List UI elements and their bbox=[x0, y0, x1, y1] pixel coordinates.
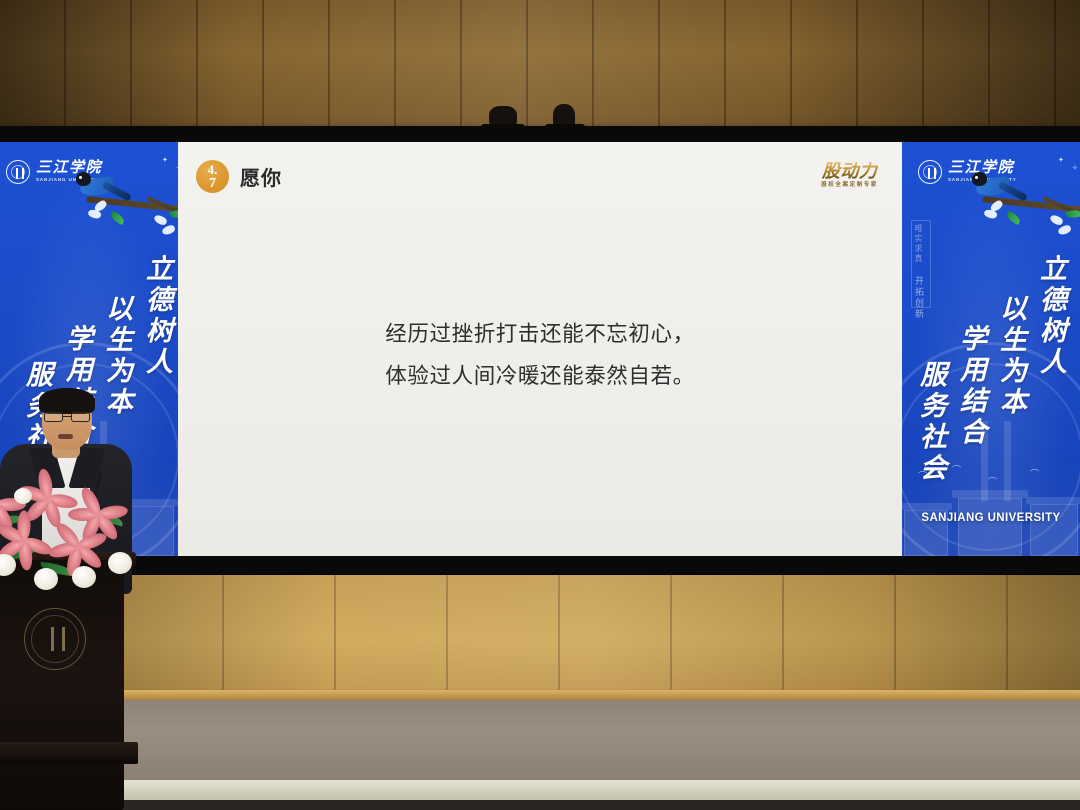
podium-base bbox=[0, 742, 138, 764]
campus-silhouette-right: ⌒ ⌒ ⌒ ⌒ SANJIANG UNIVERSITY bbox=[902, 464, 1080, 556]
magnolia-petal-icon bbox=[161, 224, 176, 236]
magnolia-bird-art-right: ✦ ✧ bbox=[954, 152, 1080, 262]
motto-column-1: 立德树人 bbox=[1035, 254, 1066, 378]
motto-column-2: 以生为本 bbox=[995, 294, 1026, 418]
university-seal-icon bbox=[918, 160, 942, 184]
rose-icon bbox=[14, 488, 32, 504]
magnolia-petal-icon bbox=[153, 213, 168, 226]
rose-icon bbox=[72, 566, 96, 588]
brand-name: 股动力 bbox=[821, 162, 878, 180]
magpie-eye-icon bbox=[79, 176, 82, 179]
rose-icon bbox=[108, 552, 132, 574]
podium bbox=[0, 560, 124, 810]
magpie-head-icon bbox=[76, 172, 91, 186]
magnolia-petal-icon bbox=[1057, 224, 1072, 236]
motto-column-1: 立德树人 bbox=[141, 254, 172, 378]
magnolia-petal-icon bbox=[1049, 213, 1064, 226]
slide-body: 经历过挫折打击还能不忘初心， 体验过人间冷暖还能泰然自若。 bbox=[178, 314, 902, 398]
sparkle-icon: ✧ bbox=[1072, 166, 1078, 172]
stage-front-shadow bbox=[0, 800, 1080, 810]
podium-university-seal-icon bbox=[24, 608, 86, 670]
badge-number-bottom: 7 bbox=[196, 177, 229, 191]
led-screen: 三江学院 SANJIANG UNIVERSITY ✦ ✧ bbox=[0, 142, 1080, 556]
university-footer-en: SANJIANG UNIVERSITY bbox=[902, 512, 1080, 524]
motto-column-3: 学用结合 bbox=[955, 324, 986, 448]
slogan-text-b: 开拓创新 bbox=[913, 276, 926, 320]
sparkle-icon: ✦ bbox=[1058, 158, 1064, 164]
blue-panel-right: 三江学院 SANJIANG UNIVERSITY 唯实求真 开拓创新 bbox=[902, 142, 1080, 556]
brand-logo: 股动力 股权全案定制专家 bbox=[821, 162, 878, 189]
magnolia-bird-art-left: ✦ ✧ bbox=[58, 152, 178, 262]
section-number-badge: 4. 7 bbox=[196, 160, 229, 193]
stage-floor bbox=[0, 700, 1080, 786]
rose-icon bbox=[34, 568, 58, 590]
speaker-hair bbox=[39, 388, 95, 414]
slide-header: 4. 7 愿你 bbox=[196, 160, 282, 193]
badge-number-top: 4. bbox=[196, 163, 229, 176]
speaker-mouth bbox=[58, 434, 73, 439]
slogan-text-a: 唯实求真 bbox=[913, 224, 924, 264]
university-seal-icon bbox=[6, 160, 30, 184]
upper-wood-wall bbox=[0, 0, 1080, 130]
brand-tagline: 股权全案定制专家 bbox=[821, 183, 878, 189]
glasses-icon bbox=[44, 412, 90, 422]
slide-line-2: 体验过人间冷暖还能泰然自若。 bbox=[178, 356, 902, 398]
auditorium-scene: 三江学院 SANJIANG UNIVERSITY ✦ ✧ bbox=[0, 0, 1080, 810]
magpie-eye-icon bbox=[975, 176, 978, 179]
lower-wood-wall bbox=[0, 575, 1080, 693]
slide-line-1: 经历过挫折打击还能不忘初心， bbox=[178, 314, 902, 356]
leaf-icon bbox=[109, 211, 126, 225]
sparkle-icon: ✦ bbox=[162, 158, 168, 164]
flower-arrangement bbox=[0, 472, 138, 590]
presentation-slide: 4. 7 愿你 股动力 股权全案定制专家 经历过挫折打击还能不忘初心， 体验过人… bbox=[178, 142, 902, 556]
leaf-icon bbox=[1005, 211, 1022, 225]
slide-title: 愿你 bbox=[240, 162, 282, 191]
magpie-head-icon bbox=[972, 172, 987, 186]
